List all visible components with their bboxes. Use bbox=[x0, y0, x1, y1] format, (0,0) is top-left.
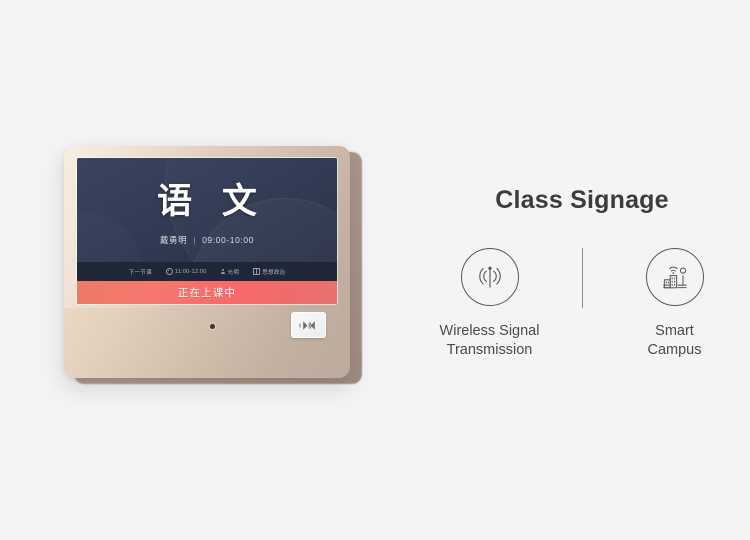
next-class-subject-group: 思想政治 bbox=[253, 268, 285, 276]
feature-label: Wireless Signal Transmission bbox=[440, 322, 540, 360]
info-panel: Class Signage Wireless Signal Transmissi… bbox=[400, 186, 750, 386]
next-class-time-group: 11:00-12:00 bbox=[166, 268, 207, 275]
next-class-subject: 思想政治 bbox=[262, 268, 285, 276]
page-title: Class Signage bbox=[400, 186, 750, 215]
wireless-signal-antenna-icon bbox=[473, 260, 507, 294]
next-class-time: 11:00-12:00 bbox=[175, 269, 207, 275]
next-class-teacher: 允明 bbox=[228, 268, 240, 276]
product-image-area: 语 文 戴勇明|09:00-10:00 下一节课 11:00-12:00 bbox=[0, 0, 420, 540]
nfc-card-reader[interactable] bbox=[291, 312, 326, 338]
feature-label: Smart Campus bbox=[648, 322, 702, 360]
current-course-title: 语 文 bbox=[77, 184, 337, 219]
next-class-teacher-group: 允明 bbox=[221, 268, 240, 276]
clock-icon bbox=[166, 268, 173, 275]
feature-wireless-signal-transmission: Wireless Signal Transmission bbox=[420, 248, 560, 360]
wireless-signal-icon-circle bbox=[461, 248, 519, 306]
book-icon bbox=[253, 268, 260, 275]
teacher-name: 戴勇明 bbox=[160, 235, 187, 245]
class-time-range: 09:00-10:00 bbox=[202, 235, 254, 245]
screen-main-area: 语 文 戴勇明|09:00-10:00 bbox=[77, 158, 337, 262]
next-class-label: 下一节课 bbox=[129, 268, 152, 276]
status-badge: 正在上课中 bbox=[77, 281, 337, 304]
person-icon bbox=[221, 269, 226, 274]
smart-campus-buildings-icon bbox=[657, 260, 693, 294]
meta-separator: | bbox=[193, 235, 196, 245]
next-class-label-group: 下一节课 bbox=[129, 268, 152, 276]
feature-divider bbox=[582, 248, 583, 308]
current-course-meta: 戴勇明|09:00-10:00 bbox=[77, 234, 337, 246]
feature-smart-campus: Smart Campus bbox=[605, 248, 745, 360]
next-class-strip: 下一节课 11:00-12:00 允明 思想政治 bbox=[77, 262, 337, 281]
nfc-card-reader-icon bbox=[299, 319, 319, 332]
indicator-sensor-dot bbox=[210, 324, 215, 329]
smart-campus-icon-circle bbox=[646, 248, 704, 306]
class-signage-device: 语 文 戴勇明|09:00-10:00 下一节课 11:00-12:00 bbox=[64, 146, 358, 384]
feature-list: Wireless Signal Transmission bbox=[400, 248, 750, 360]
device-body: 语 文 戴勇明|09:00-10:00 下一节课 11:00-12:00 bbox=[64, 146, 350, 378]
device-screen[interactable]: 语 文 戴勇明|09:00-10:00 下一节课 11:00-12:00 bbox=[77, 158, 337, 304]
